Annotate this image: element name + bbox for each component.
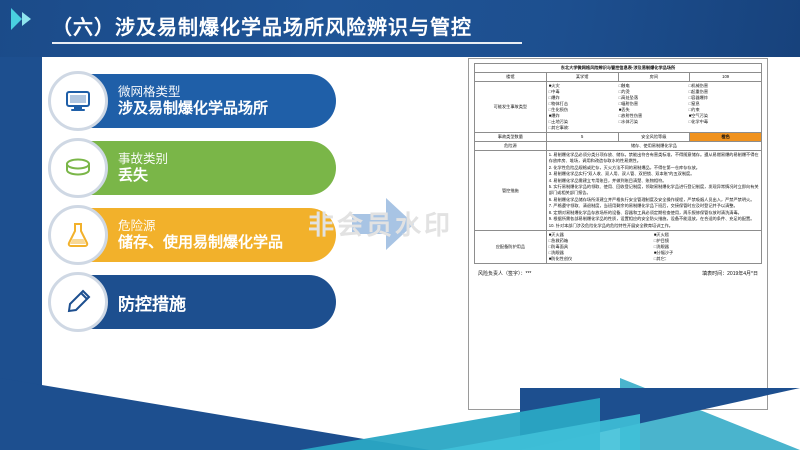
pen-icon xyxy=(63,287,93,317)
card-accident-line2: 丢失 xyxy=(118,167,168,185)
accident-type-label: 可能发生事故类型 xyxy=(475,82,547,133)
equipment-options: ■灭火器■灭火毯□急救药箱□护目镜□防毒面具□洗眼器□洗眼器■分幅沙子■防化性创… xyxy=(546,231,761,264)
table-title: 东北大学微网格风险辨识与管控信息表-涉及易制爆化学品场所 xyxy=(475,64,762,73)
table-row: 事故类型数量 5 安全风险等级 橙色 xyxy=(475,133,762,142)
card-accident-category[interactable]: 事故类别 丢失 xyxy=(56,141,336,195)
measure-item[interactable]: 1. 易制爆化学品必须分类分项存放、储存。禁能出符合有害类标准，不得随意储存。遵… xyxy=(549,152,759,164)
card-control-measures[interactable]: 防控措施 xyxy=(56,275,336,329)
card-control-label: 防控措施 xyxy=(118,290,186,315)
measure-item[interactable]: 8. 定期对易制爆化学品存放场所的设备、容器和工具必须定期检查使用，周乐报修保管… xyxy=(549,210,759,216)
monitor-icon-badge xyxy=(48,71,108,131)
card-list: 微网格类型 涉及易制爆化学品场所 事故类别 丢失 危险源 储存、使用易制爆化学品 xyxy=(56,74,336,342)
risk-info-table: 东北大学微网格风险辨识与管控信息表-涉及易制爆化学品场所 楼馆 某学馆 房间 1… xyxy=(474,63,762,264)
footer-shape-4 xyxy=(440,414,640,450)
watermark-text: 非会员水印 xyxy=(308,205,453,242)
signature-text: 风险负责人（签字）：*** xyxy=(478,270,531,277)
lab-label: 楼馆 xyxy=(475,73,547,82)
risk-level-label: 安全风险等级 xyxy=(618,133,690,142)
lab-value: 某学馆 xyxy=(546,73,618,82)
count-value: 5 xyxy=(546,133,618,142)
card-hazard-line1: 危险源 xyxy=(118,219,283,234)
measure-item[interactable]: 3. 易制爆化学品实行“双人收、双人用、双人管、双把锁、双本账”的五双制度。 xyxy=(549,171,759,177)
table-row: 管控措施 1. 易制爆化学品必须分类分项存放、储存。禁能出符合有害类标准，不得随… xyxy=(475,151,762,231)
risk-level-badge: 橙色 xyxy=(690,133,762,142)
room-label: 房间 xyxy=(618,73,690,82)
equipment-checkbox[interactable]: □其它： xyxy=(654,256,759,262)
page-title: （六）涉及易制爆化学品场所风险辨识与管控 xyxy=(52,11,472,40)
hazard-source-value: 储存、使用易制爆化学品 xyxy=(546,142,761,151)
table-row: 应配备防护用品 ■灭火器■灭火毯□急救药箱□护目镜□防毒面具□洗眼器□洗眼器■分… xyxy=(475,231,762,264)
fill-date-text: 填表时间：2019年4月*日 xyxy=(702,270,758,277)
measures-value: 1. 易制爆化学品必须分类分项存放、储存。禁能出符合有害类标准，不得随意储存。遵… xyxy=(546,151,761,231)
table-row: 危险源 储存、使用易制爆化学品 xyxy=(475,142,762,151)
pen-icon-badge xyxy=(48,272,108,332)
accident-type-checkbox[interactable]: □化学中毒 xyxy=(689,119,759,125)
measure-item[interactable]: 4. 易制爆化学品需建立专用账目，并做到账目清楚、账物相符。 xyxy=(549,178,759,184)
monitor-icon xyxy=(63,86,93,116)
card-hazard-line2: 储存、使用易制爆化学品 xyxy=(118,234,283,252)
flask-icon xyxy=(63,220,93,250)
box-icon xyxy=(63,153,93,183)
measures-label: 管控措施 xyxy=(475,151,547,231)
accident-type-checkbox[interactable]: □其它事故: xyxy=(549,125,619,131)
table-row: 楼馆 某学馆 房间 109 xyxy=(475,73,762,82)
measure-item[interactable]: 5. 实行易制爆化学品的领取、使用、回收登记制度，领取易制爆化学品进行登记制度，… xyxy=(549,184,759,196)
measure-item[interactable]: 9. 根据所需各部易制爆化学品的性质，设置相应的安全防火措施，设备不能混放，在合… xyxy=(549,216,759,222)
equipment-label: 应配备防护用品 xyxy=(475,231,547,264)
table-row: 可能发生事故类型 ■火灾□触电□机械伤害□中毒□灼烫□起重伤害□爆炸□高处坠落□… xyxy=(475,82,762,133)
table-footer: 风险负责人（签字）：*** 填表时间：2019年4月*日 xyxy=(474,270,762,277)
card-hazard-source[interactable]: 危险源 储存、使用易制爆化学品 xyxy=(56,208,336,262)
card-grid-type-line2: 涉及易制爆化学品场所 xyxy=(118,100,268,118)
accident-type-options: ■火灾□触电□机械伤害□中毒□灼烫□起重伤害□爆炸□高处坠落□容器爆炸□物体打击… xyxy=(546,82,761,133)
accident-type-checkbox[interactable]: □水体污染 xyxy=(619,119,689,125)
risk-info-table-panel: 东北大学微网格风险辨识与管控信息表-涉及易制爆化学品场所 楼馆 某学馆 房间 1… xyxy=(468,58,768,410)
measure-item[interactable]: 6. 易制爆化学品储存场所须建立并严格执行安全管理制度及安全操作规程，严禁吸烟人… xyxy=(549,197,759,203)
measure-item[interactable]: 10. 针对本部门涉及危险化学品的危险特性开展安全教育培训工作。 xyxy=(549,223,759,229)
card-accident-line1: 事故类别 xyxy=(118,152,168,167)
flask-icon-badge xyxy=(48,205,108,265)
card-grid-type[interactable]: 微网格类型 涉及易制爆化学品场所 xyxy=(56,74,336,128)
measure-item[interactable]: 2. 化学性危险品规格或贮存，灭火方法不同的易制爆品，不得在第一仓库存存放。 xyxy=(549,165,759,171)
count-label: 事故类型数量 xyxy=(475,133,547,142)
play-triangle-icon xyxy=(9,6,35,32)
card-grid-type-line1: 微网格类型 xyxy=(118,85,268,100)
table-row: 东北大学微网格风险辨识与管控信息表-涉及易制爆化学品场所 xyxy=(475,64,762,73)
measure-item[interactable]: 7. 严格遵守领取、清退制度，当班用剩余的易制爆化学品下班后，交接保管时应及时登… xyxy=(549,203,759,209)
room-value: 109 xyxy=(690,73,762,82)
title-underline xyxy=(52,42,522,44)
box-icon-badge xyxy=(48,138,108,198)
footer-decor xyxy=(0,378,800,450)
hazard-source-label: 危险源 xyxy=(475,142,547,151)
equipment-checkbox[interactable]: ■防化性创仪 xyxy=(549,256,654,262)
